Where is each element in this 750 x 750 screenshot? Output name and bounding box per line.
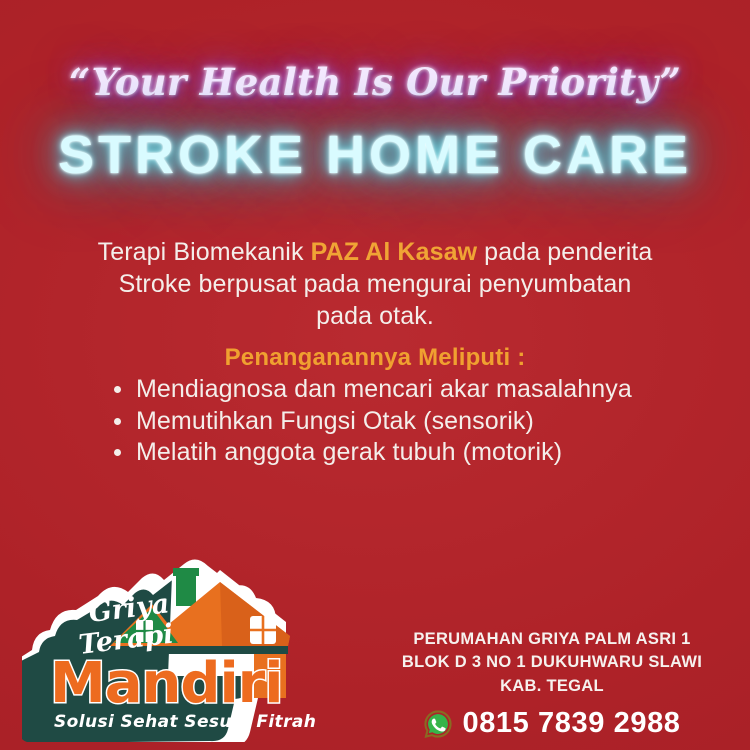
list-item: Memutihkan Fungsi Otak (sensorik) (110, 406, 670, 437)
script-tagline: “Your Health Is Our Priority” (0, 60, 750, 104)
brand-logo: Griya Terapi Mandiri Solusi Sehat Sesuai… (22, 542, 342, 742)
section-subheading: Penanganannya Meliputi : (0, 344, 750, 372)
address-line-3: KAB. TEGAL (382, 675, 722, 698)
intro-paragraph: Terapi Biomekanik PAZ Al Kasaw pada pend… (95, 236, 655, 332)
logo-wordmark: Mandiri (50, 651, 282, 716)
page-title: STROKE HOME CARE (0, 124, 750, 186)
address-line-1: PERUMAHAN GRIYA PALM ASRI 1 (382, 628, 722, 651)
intro-text-part1: Terapi Biomekanik (98, 238, 311, 266)
poster-canvas: “Your Health Is Our Priority” STROKE HOM… (0, 0, 750, 750)
address-line-2: BLOK D 3 NO 1 DUKUHWARU SLAWI (382, 651, 722, 674)
brand-highlight: PAZ Al Kasaw (311, 238, 478, 266)
phone-number[interactable]: 0815 7839 2988 (462, 707, 680, 740)
phone-row[interactable]: 0815 7839 2988 (382, 707, 722, 740)
address-block: PERUMAHAN GRIYA PALM ASRI 1 BLOK D 3 NO … (382, 628, 722, 698)
chimney (176, 572, 196, 606)
logo-tagline: Solusi Sehat Sesuai Fitrah (54, 712, 316, 732)
list-item: Melatih anggota gerak tubuh (motorik) (110, 437, 670, 468)
chimney-cap (173, 568, 199, 576)
list-item: Mendiagnosa dan mencari akar masalahnya (110, 374, 670, 405)
whatsapp-icon[interactable] (423, 709, 453, 739)
service-list: Mendiagnosa dan mencari akar masalahnya … (110, 374, 670, 469)
